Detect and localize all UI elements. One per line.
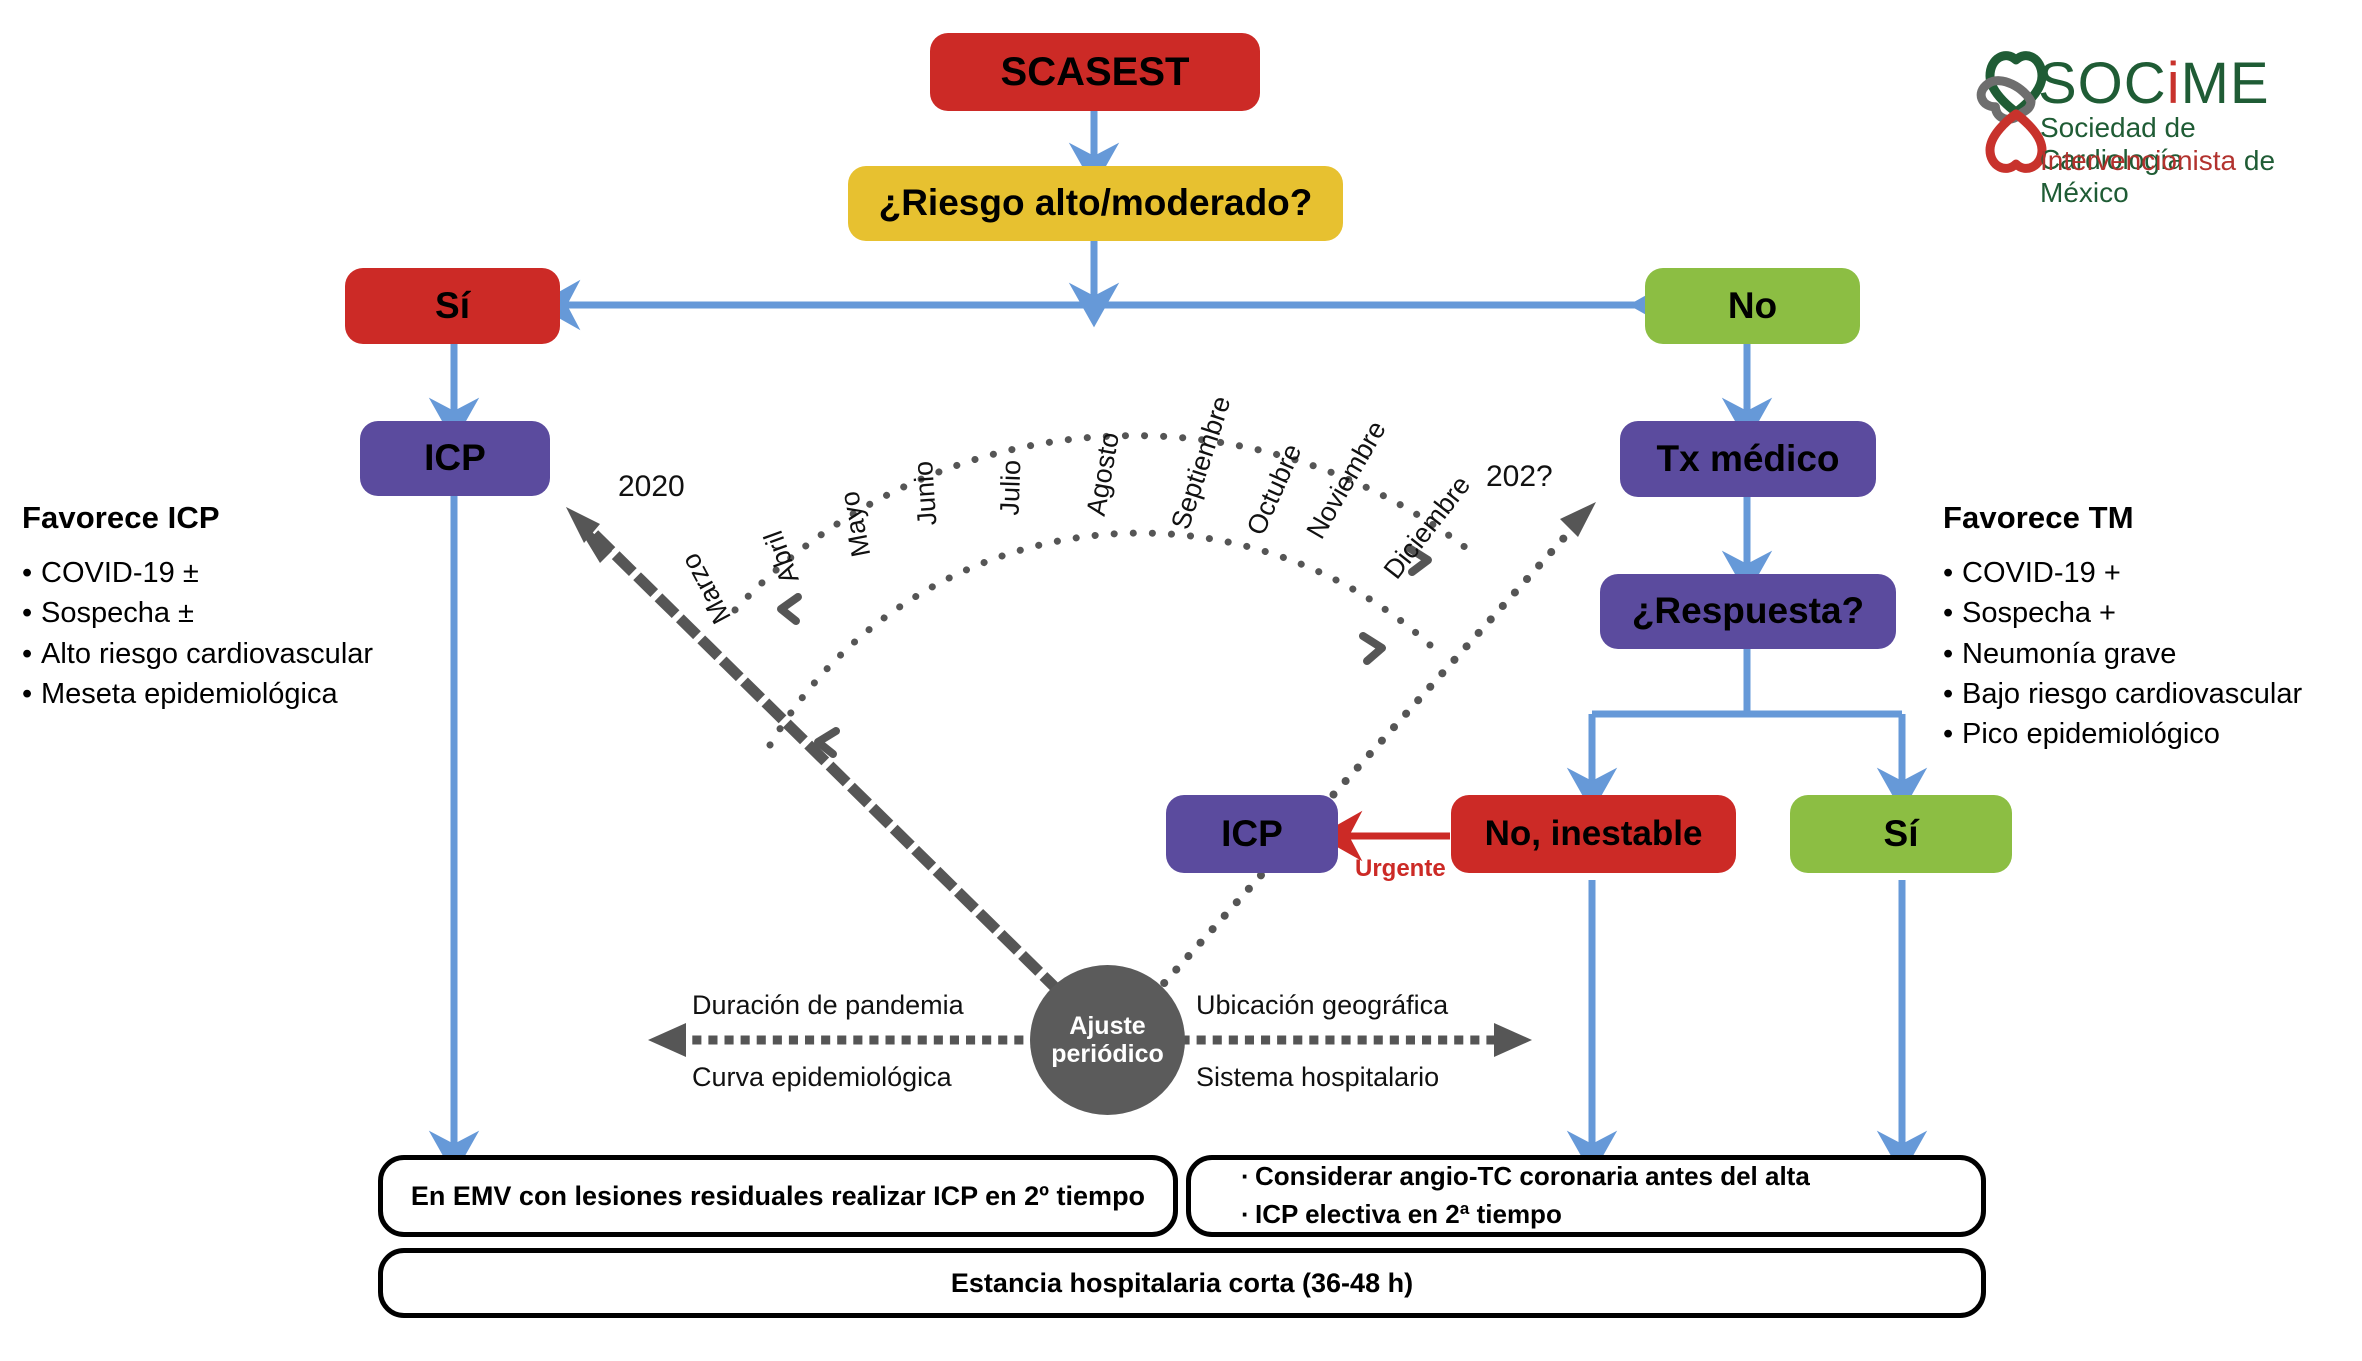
arc-inner-right-arrowhead [1363,636,1382,661]
node-icp-left[interactable]: ICP [360,421,550,496]
outcome-right-item: Considerar angio-TC coronaria antes del … [1241,1158,1810,1196]
node-icp-center-label: ICP [1221,815,1283,854]
timeline-month-abril: Abril [758,526,806,587]
node-tx-medico-label: Tx médico [1657,440,1840,479]
timeline-year-end: 202? [1486,460,1553,494]
arc-inner-left-arrowhead [818,731,836,754]
timeline-month-agosto: Agosto [1081,430,1126,518]
panel-favorece-tm: Favorece TM COVID-19 + Sospecha + Neumon… [1943,500,2302,754]
arc-inner [770,533,1430,745]
node-yes-left[interactable]: Sí [345,268,560,344]
hub-to-icp-left-dashed [585,525,1078,1010]
node-no-right[interactable]: No [1645,268,1860,344]
node-scasest-label: SCASEST [1001,51,1190,93]
hub-label-sistema-hospitalario: Sistema hospitalario [1196,1062,1439,1093]
node-scasest[interactable]: SCASEST [930,33,1260,111]
node-si-right[interactable]: Sí [1790,795,2012,873]
logo-brand-i: i [2167,51,2181,116]
panel-right-item: Pico epidemiológico [1943,714,2302,754]
hub-label-curva-epidemiologica: Curva epidemiológica [692,1062,952,1093]
timeline-month-mayo: Mayo [834,489,877,560]
timeline-year-start: 2020 [618,470,685,504]
hub-label-duracion-pandemia: Duración de pandemia [692,990,964,1021]
hub-left-arrowhead-2 [566,507,612,563]
logo-line2a: Intervencionista [2040,145,2236,176]
panel-left-item: Alto riesgo cardiovascular [22,634,373,674]
hub-line2: periódico [1051,1040,1164,1068]
hub-right-arrowhead [1560,502,1596,537]
panel-right-list: COVID-19 + Sospecha + Neumonía grave Baj… [1943,553,2302,754]
timeline-month-marzo: Marzo [675,548,738,629]
node-yes-left-label: Sí [435,287,470,326]
socime-logo: SOCiME Sociedad de Cardiología Intervenc… [1930,28,2330,176]
node-respuesta[interactable]: ¿Respuesta? [1600,574,1896,649]
outcome-right-item: ICP electiva en 2ª tiempo [1241,1196,1810,1234]
node-icp-center[interactable]: ICP [1166,795,1338,873]
node-icp-left-label: ICP [424,439,486,478]
node-no-inestable[interactable]: No, inestable [1451,795,1736,873]
timeline-month-diciembre: Diciembre [1378,470,1477,585]
outcome-bottom-text: Estancia hospitalaria corta (36-48 h) [951,1268,1413,1299]
hub-axis-right-arrowhead [1494,1023,1532,1057]
hub-ajuste-periodico[interactable]: Ajuste periódico [1030,965,1185,1115]
timeline-month-septiembre: Septiembre [1165,392,1237,533]
node-tx-medico[interactable]: Tx médico [1620,421,1876,497]
timeline-month-julio: Julio [995,459,1028,516]
timeline-month-junio: Junio [908,460,943,527]
hub-axis-left-arrowhead [648,1023,686,1057]
arc-outer-left-arrowhead [781,597,798,621]
panel-right-item: COVID-19 + [1943,553,2302,593]
hub-label-ubicacion-geografica: Ubicación geográfica [1196,990,1448,1021]
panel-left-item: COVID-19 ± [22,553,373,593]
panel-right-item: Neumonía grave [1943,634,2302,674]
node-no-inestable-label: No, inestable [1485,816,1703,853]
logo-brand-main: SOC [2038,51,2167,116]
node-risk-decision-label: ¿Riesgo alto/moderado? [879,184,1313,223]
panel-right-item: Bajo riesgo cardiovascular [1943,674,2302,714]
outcome-box-right[interactable]: Considerar angio-TC coronaria antes del … [1186,1155,1986,1237]
panel-favorece-icp: Favorece ICP COVID-19 ± Sospecha ± Alto … [22,500,373,714]
urgente-label: Urgente [1355,855,1446,883]
node-respuesta-label: ¿Respuesta? [1632,592,1864,631]
logo-brand-end: ME [2181,51,2270,116]
timeline-month-octubre: Octubre [1241,439,1308,539]
panel-right-item: Sospecha + [1943,593,2302,633]
panel-left-item: Sospecha ± [22,593,373,633]
hub-to-tx-dotted [1140,520,1580,1010]
panel-right-title: Favorece TM [1943,500,2302,536]
hub-line1: Ajuste [1069,1012,1145,1040]
node-risk-decision[interactable]: ¿Riesgo alto/moderado? [848,166,1343,241]
hub-left-arrowhead [566,507,600,543]
outcome-box-bottom[interactable]: Estancia hospitalaria corta (36-48 h) [378,1248,1986,1318]
outcome-right-list: Considerar angio-TC coronaria antes del … [1235,1158,1810,1233]
node-si-right-label: Sí [1884,815,1919,854]
outcome-left-text: En EMV con lesiones residuales realizar … [411,1181,1145,1212]
node-no-right-label: No [1728,287,1777,326]
outcome-box-left[interactable]: En EMV con lesiones residuales realizar … [378,1155,1178,1237]
panel-left-title: Favorece ICP [22,500,373,536]
panel-left-list: COVID-19 ± Sospecha ± Alto riesgo cardio… [22,553,373,714]
panel-left-item: Meseta epidemiológica [22,674,373,714]
timeline-month-noviembre: Noviembre [1301,416,1393,545]
